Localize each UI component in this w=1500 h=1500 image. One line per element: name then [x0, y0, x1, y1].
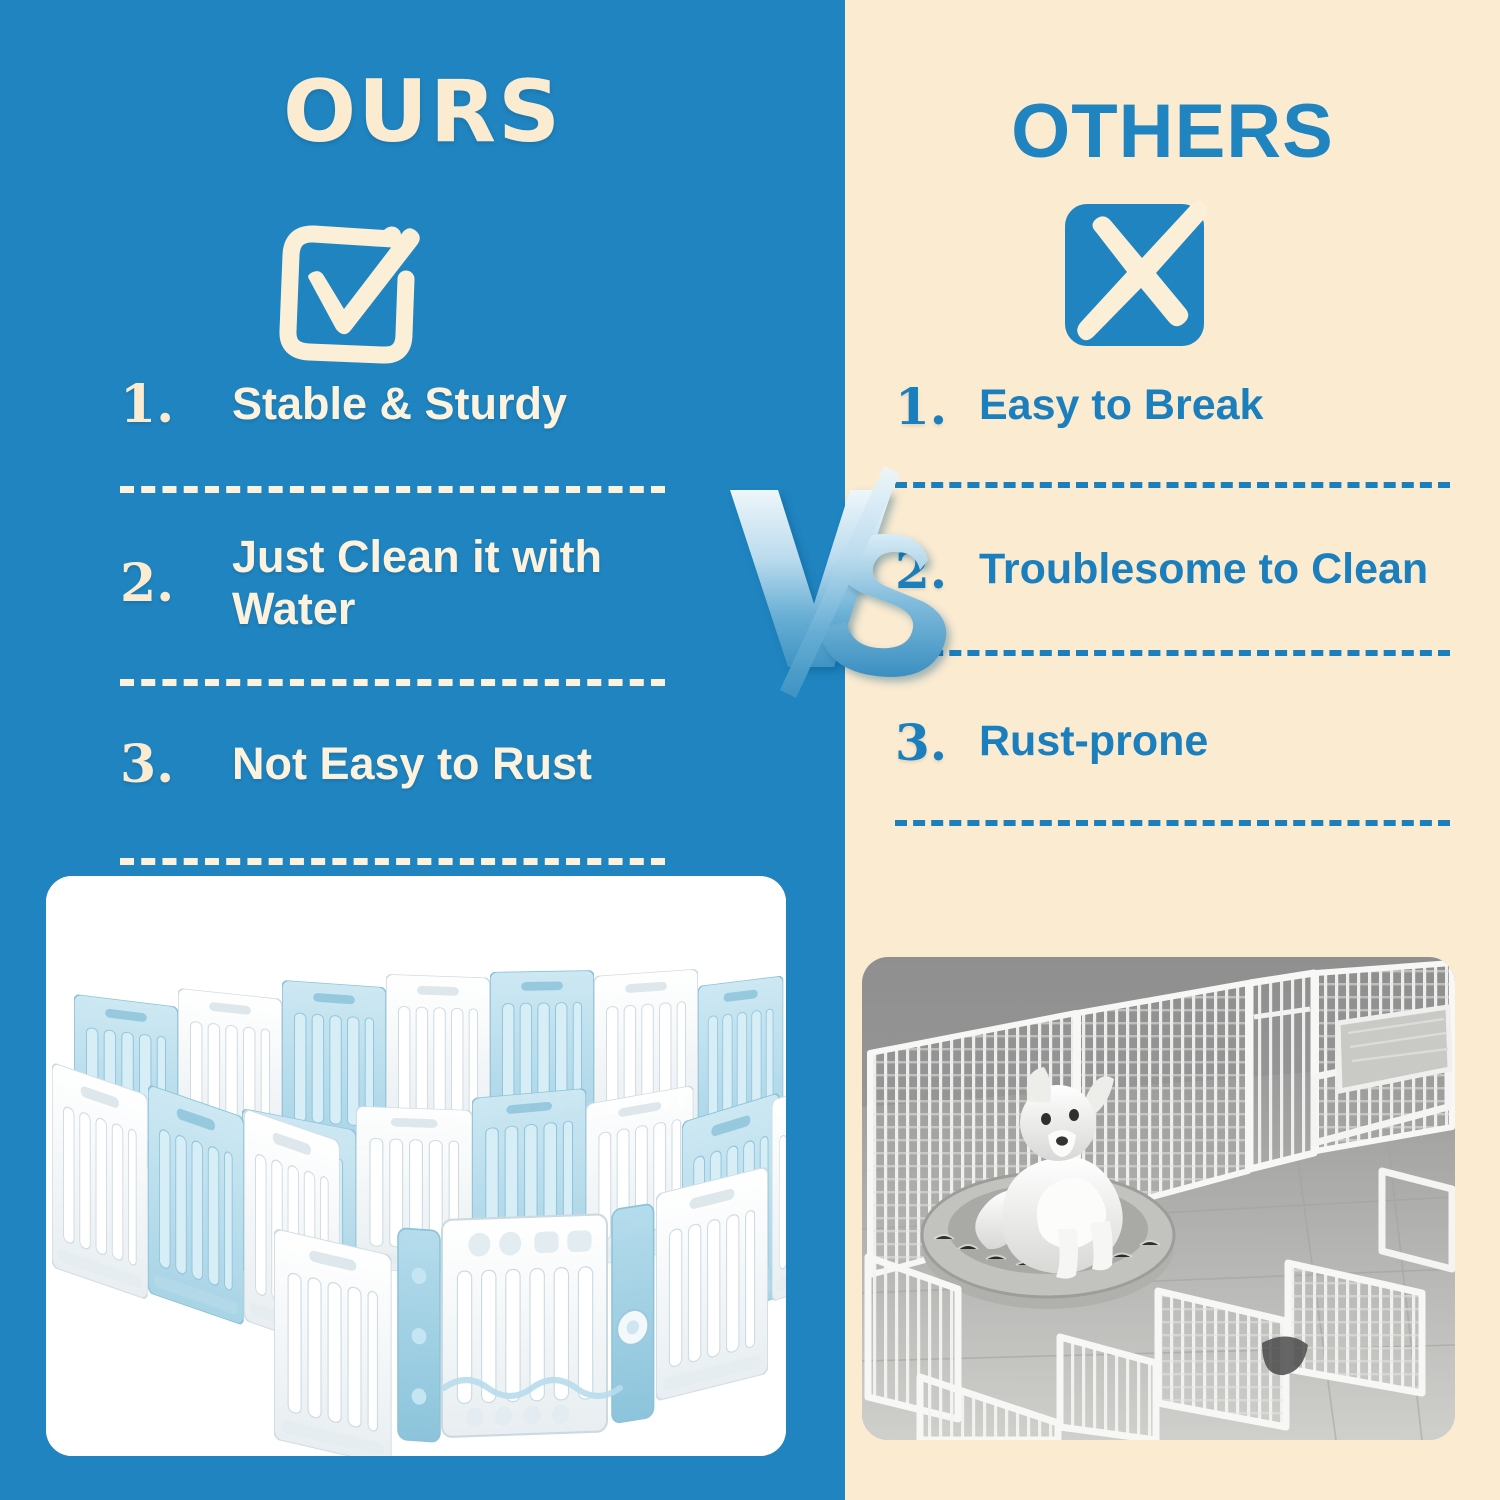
list-divider [895, 482, 1450, 488]
cross-square-icon [1063, 196, 1213, 351]
list-item: 3. Not Easy to Rust [120, 728, 665, 800]
ours-product-photo [46, 876, 786, 1456]
list-item-label: Not Easy to Rust [232, 738, 592, 790]
spacer [895, 604, 1450, 642]
others-feature-list: 1. Easy to Break 2. Troublesome to Clean… [895, 372, 1450, 834]
spacer [895, 440, 1450, 474]
list-divider [120, 679, 665, 686]
list-item-number: 2. [895, 541, 979, 600]
check-square-icon [268, 203, 438, 373]
list-item-label: Just Clean it with Water [232, 531, 665, 635]
list-divider [895, 650, 1450, 656]
list-item: 1. Stable & Sturdy [120, 368, 665, 440]
spacer [120, 800, 665, 850]
others-product-photo [862, 957, 1455, 1440]
list-divider [120, 858, 665, 865]
list-item-label: Stable & Sturdy [232, 378, 567, 430]
list-divider [120, 486, 665, 493]
comparison-infographic: OURS 1. Stable & Sturdy 2. Just Clean it… [0, 0, 1500, 1500]
list-item-number: 3. [895, 713, 979, 772]
ours-heading: OURS [0, 62, 845, 162]
list-divider [895, 820, 1450, 826]
spacer [895, 664, 1450, 708]
spacer [120, 440, 665, 478]
spacer [120, 635, 665, 671]
list-item: 3. Rust-prone [895, 708, 1450, 776]
others-heading: OTHERS [845, 88, 1500, 175]
spacer [895, 776, 1450, 812]
list-item-label: Troublesome to Clean [979, 545, 1428, 595]
list-item-number: 3. [120, 734, 232, 795]
ours-feature-list: 1. Stable & Sturdy 2. Just Clean it with… [120, 368, 665, 873]
list-item-label: Easy to Break [979, 381, 1263, 431]
list-item-number: 2. [120, 553, 232, 614]
spacer [895, 496, 1450, 536]
list-item-number: 1. [895, 377, 979, 436]
list-item-number: 1. [120, 374, 232, 435]
spacer [120, 694, 665, 728]
list-item: 1. Easy to Break [895, 372, 1450, 440]
spacer [120, 501, 665, 531]
list-item: 2. Just Clean it with Water [120, 531, 665, 635]
list-item: 2. Troublesome to Clean [895, 536, 1450, 604]
list-item-label: Rust-prone [979, 717, 1208, 767]
